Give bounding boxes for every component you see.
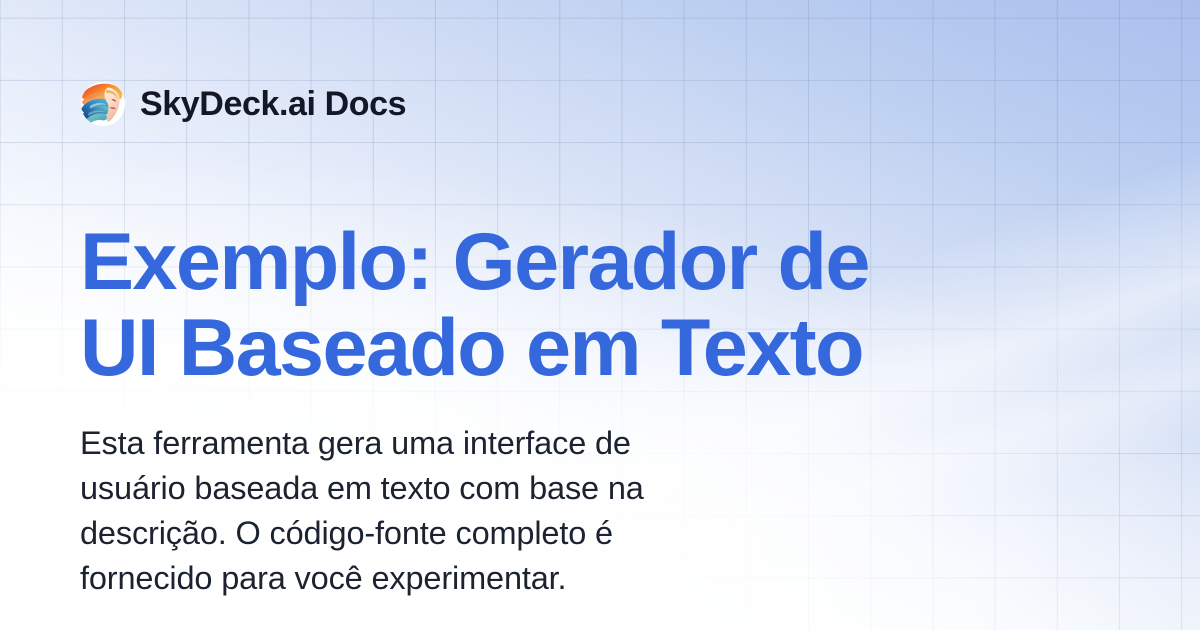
og-card: SkyDeck.ai Docs Exemplo: Gerador de UI B… xyxy=(0,0,1200,630)
skydeck-wave-face-logo-icon xyxy=(80,81,126,127)
page-description: Esta ferramenta gera uma interface de us… xyxy=(80,421,780,601)
page-title-line-2: UI Baseado em Texto xyxy=(80,306,1090,392)
page-title: Exemplo: Gerador de UI Baseado em Texto xyxy=(80,220,1090,392)
card-content: SkyDeck.ai Docs Exemplo: Gerador de UI B… xyxy=(0,0,1200,630)
page-title-line-1: Exemplo: Gerador de xyxy=(80,220,1090,306)
page-description-line-3: descrição. O código-fonte completo é xyxy=(80,511,780,556)
brand-header: SkyDeck.ai Docs xyxy=(80,78,406,130)
page-description-line-1: Esta ferramenta gera uma interface de xyxy=(80,421,780,466)
page-description-line-2: usuário baseada em texto com base na xyxy=(80,466,780,511)
brand-name: SkyDeck.ai Docs xyxy=(140,87,406,121)
page-description-line-4: fornecido para você experimentar. xyxy=(80,556,780,601)
